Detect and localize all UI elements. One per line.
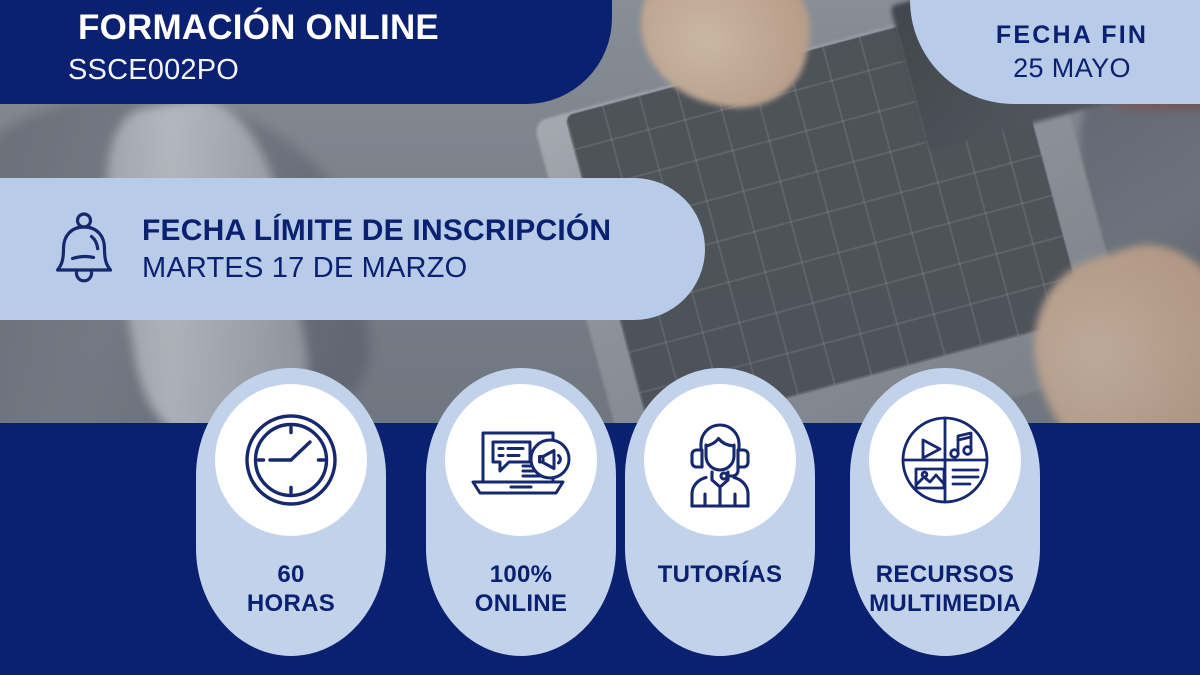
feature-card-multimedia[interactable]: RECURSOS MULTIMEDIA [850,368,1040,656]
feature-card-label: 60 HORAS [247,560,335,619]
multimedia-quadrants-icon [869,384,1021,536]
laptop-chat-megaphone-icon [445,384,597,536]
bell-icon [48,210,120,288]
page-title: FORMACIÓN ONLINE [78,8,439,48]
feature-label-line1: 60 [277,561,304,588]
feature-card-online[interactable]: 100% ONLINE [426,368,616,656]
course-code: SSCE002PO [68,54,239,87]
header-band: FORMACIÓN ONLINE SSCE002PO [0,0,612,104]
headset-agent-icon [644,384,796,536]
feature-card-label: RECURSOS MULTIMEDIA [869,560,1021,619]
feature-card-hours[interactable]: 60 HORAS [196,368,386,656]
feature-label-line1: TUTORÍAS [658,561,783,588]
feature-card-label: 100% ONLINE [475,560,567,619]
feature-card-tutoring[interactable]: TUTORÍAS [625,368,815,656]
feature-label-line2: ONLINE [475,589,567,618]
end-date-value: 25 MAYO [1013,53,1131,84]
feature-label-line2: MULTIMEDIA [869,589,1021,618]
deadline-date: MARTES 17 DE MARZO [142,252,611,285]
deadline-title: FECHA LÍMITE DE INSCRIPCIÓN [142,214,611,248]
feature-label-line2: HORAS [247,589,335,618]
enrollment-deadline-pill: FECHA LÍMITE DE INSCRIPCIÓN MARTES 17 DE… [0,178,705,320]
poster-root: FORMACIÓN ONLINE SSCE002PO FECHA FIN 25 … [0,0,1200,675]
clock-icon [215,384,367,536]
feature-card-label: TUTORÍAS [658,560,783,589]
end-date-label: FECHA FIN [996,21,1148,50]
feature-label-line1: RECURSOS [876,561,1014,588]
feature-label-line1: 100% [490,561,553,588]
